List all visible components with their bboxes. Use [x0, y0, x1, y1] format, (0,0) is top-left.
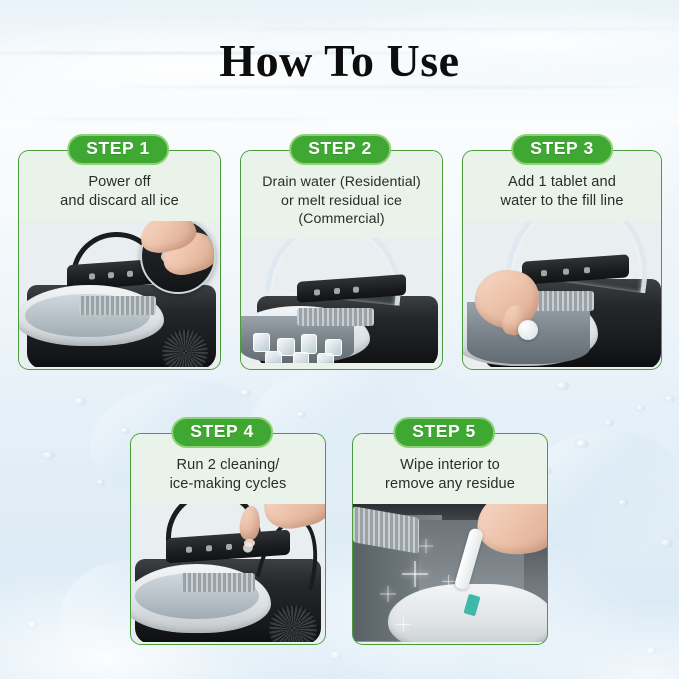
panel-indicator-icon	[206, 545, 212, 551]
water-droplet	[330, 652, 342, 659]
water-droplet	[660, 540, 673, 547]
water-droplet	[664, 396, 675, 402]
step-2-caption-line: (Commercial)	[247, 210, 436, 229]
step-3-card: Add 1 tablet and water to the fill line	[462, 150, 662, 370]
sparkle-icon	[396, 617, 411, 632]
step-5-caption-line: remove any residue	[359, 475, 541, 494]
water-droplet	[240, 390, 251, 396]
step-1-card: Power off and discard all ice	[18, 150, 221, 370]
step-5-badge: STEP 5	[393, 417, 495, 448]
step-3-caption-line: water to the fill line	[469, 192, 655, 211]
step-3-badge: STEP 3	[511, 134, 613, 165]
water-droplet	[556, 382, 569, 390]
water-droplet	[575, 440, 589, 448]
step-4-caption-line: ice-making cycles	[137, 475, 319, 494]
panel-indicator-icon	[334, 288, 340, 294]
ice-tray-grille	[181, 573, 255, 592]
sparkle-icon	[380, 586, 396, 602]
ice-maker-illustration	[463, 221, 661, 367]
step-4-card: Run 2 cleaning/ ice-making cycles	[130, 433, 326, 645]
step-2-badge: STEP 2	[289, 134, 391, 165]
water-droplet	[296, 412, 306, 418]
step-1-badge: STEP 1	[67, 134, 169, 165]
fan-vent-icon	[162, 329, 208, 366]
water-droplet	[636, 406, 645, 411]
panel-indicator-icon	[354, 287, 360, 293]
panel-indicator-icon	[563, 269, 569, 275]
step-1-photo	[19, 221, 220, 367]
page-title: How To Use	[0, 34, 679, 87]
step-2-caption-line: Drain water (Residential)	[247, 173, 436, 192]
panel-indicator-icon	[128, 271, 134, 277]
step-5-card: Wipe interior to remove any residue	[352, 433, 548, 645]
ice-maker-illustration	[241, 238, 442, 363]
step-2-photo	[241, 238, 442, 363]
step-5-photo	[353, 504, 547, 642]
water-droplet	[42, 452, 55, 459]
interior-illustration	[353, 504, 547, 642]
step-2-caption-line: or melt residual ice	[247, 192, 436, 211]
panel-indicator-icon	[542, 270, 548, 276]
ice-tray-grille	[297, 308, 373, 326]
sparkle-icon	[442, 575, 455, 588]
panel-indicator-icon	[315, 289, 321, 295]
panel-indicator-icon	[584, 267, 590, 273]
step-4-photo	[131, 504, 325, 642]
water-droplet	[646, 648, 657, 654]
ice-cube	[317, 353, 334, 363]
ice-cube	[293, 352, 309, 363]
step-3-photo	[463, 221, 661, 367]
water-droplet	[74, 398, 86, 405]
step-1-caption-line: and discard all ice	[25, 192, 214, 211]
panel-indicator-icon	[108, 273, 114, 279]
panel-indicator-icon	[186, 547, 192, 553]
sparkle-icon	[402, 561, 428, 587]
step-3-caption-line: Add 1 tablet and	[469, 173, 655, 192]
step-1-caption-line: Power off	[25, 173, 214, 192]
ice-tray-grille	[79, 296, 155, 315]
ice-maker-illustration	[19, 221, 220, 367]
panel-indicator-icon	[89, 274, 95, 280]
wave-stroke	[250, 28, 679, 30]
sparkle-icon	[419, 539, 433, 553]
step-5-caption-line: Wipe interior to	[359, 456, 541, 475]
bottom-water-wave	[0, 483, 679, 679]
ice-cube	[253, 333, 270, 352]
water-droplet	[604, 420, 614, 426]
step-4-badge: STEP 4	[171, 417, 273, 448]
wave-stroke	[30, 118, 330, 120]
water-droplet	[28, 622, 38, 628]
how-to-use-infographic: How To Use STEP 1 Power off and discard …	[0, 0, 679, 679]
water-droplet	[96, 480, 105, 485]
step-2-card: Drain water (Residential) or melt residu…	[240, 150, 443, 370]
water-droplet	[618, 500, 628, 506]
ice-cube	[265, 351, 282, 364]
step-4-caption-line: Run 2 cleaning/	[137, 456, 319, 475]
panel-indicator-icon	[226, 544, 232, 550]
water-droplet	[120, 428, 130, 434]
ice-maker-illustration	[131, 504, 325, 642]
